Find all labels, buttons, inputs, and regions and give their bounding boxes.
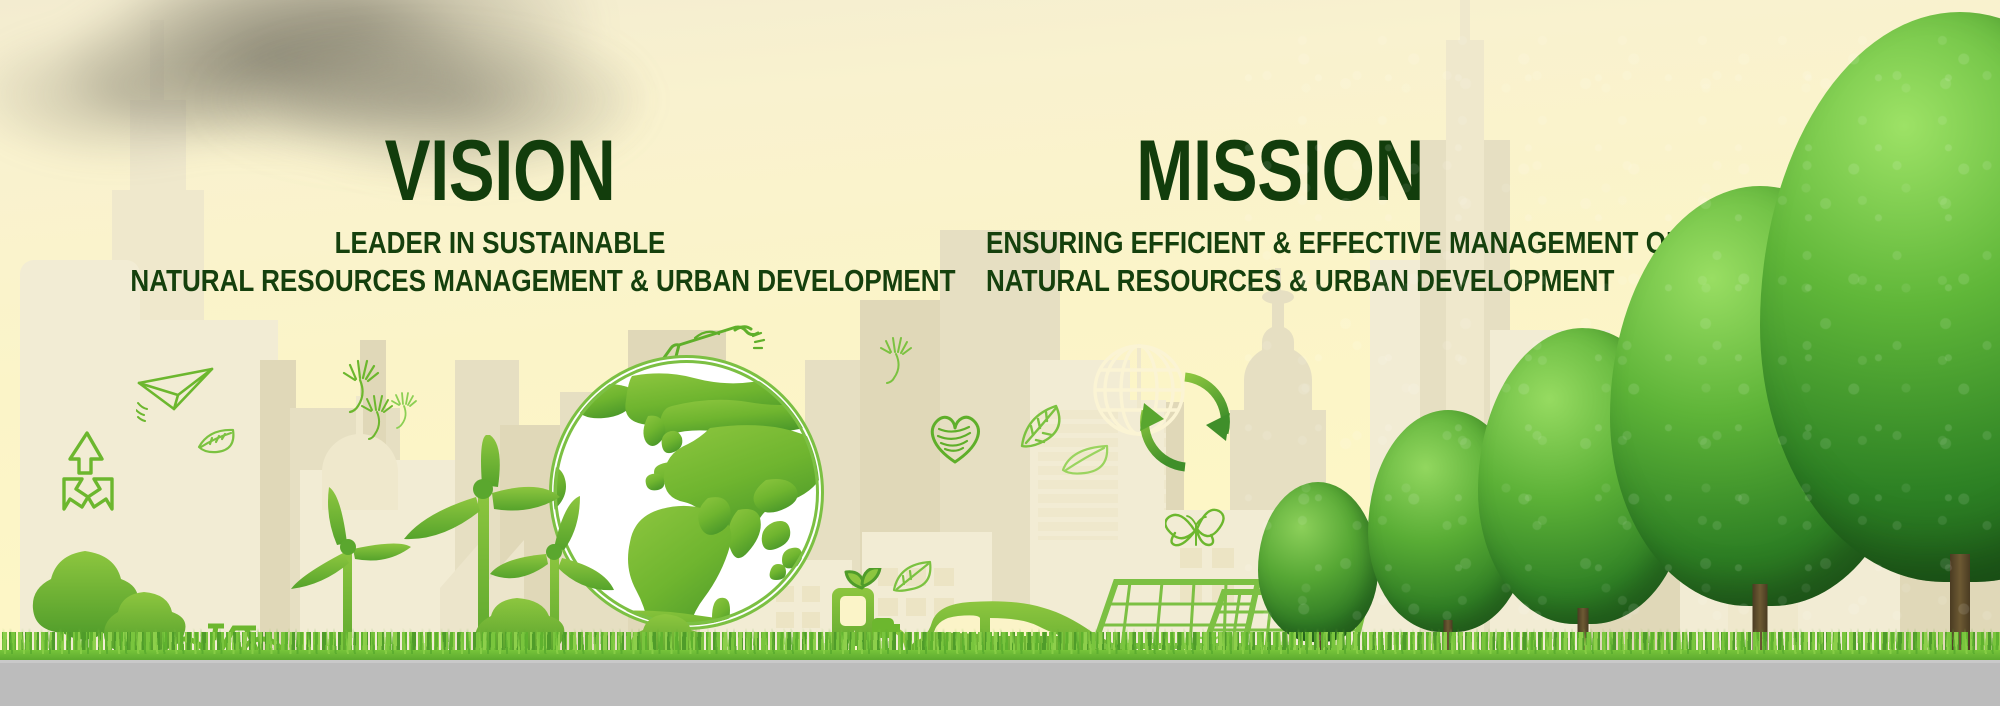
paper-plane-icon <box>136 365 226 429</box>
vision-block: VISION LEADER IN SUSTAINABLE NATURAL RES… <box>60 128 940 300</box>
eco-city-banner: VISION LEADER IN SUSTAINABLE NATURAL RES… <box>0 0 2000 706</box>
butterfly-icon <box>1165 505 1229 555</box>
vision-line-2: NATURAL RESOURCES MANAGEMENT & URBAN DEV… <box>130 262 869 300</box>
dandelion-seed-icon <box>876 335 926 395</box>
dandelion-seed-icon <box>388 390 428 438</box>
recycle-icon <box>42 427 132 517</box>
vision-line-1: LEADER IN SUSTAINABLE <box>130 224 869 262</box>
vision-heading: VISION <box>148 128 852 214</box>
tree-row <box>1240 26 2000 666</box>
leaf-icon <box>196 425 238 455</box>
grass-tufts <box>0 628 2000 654</box>
road-strip <box>0 660 2000 706</box>
leaf-icon <box>1060 443 1112 477</box>
tree-icon <box>1760 26 2000 666</box>
recycle-arrows-icon <box>1130 367 1240 477</box>
heart-icon <box>925 410 985 468</box>
